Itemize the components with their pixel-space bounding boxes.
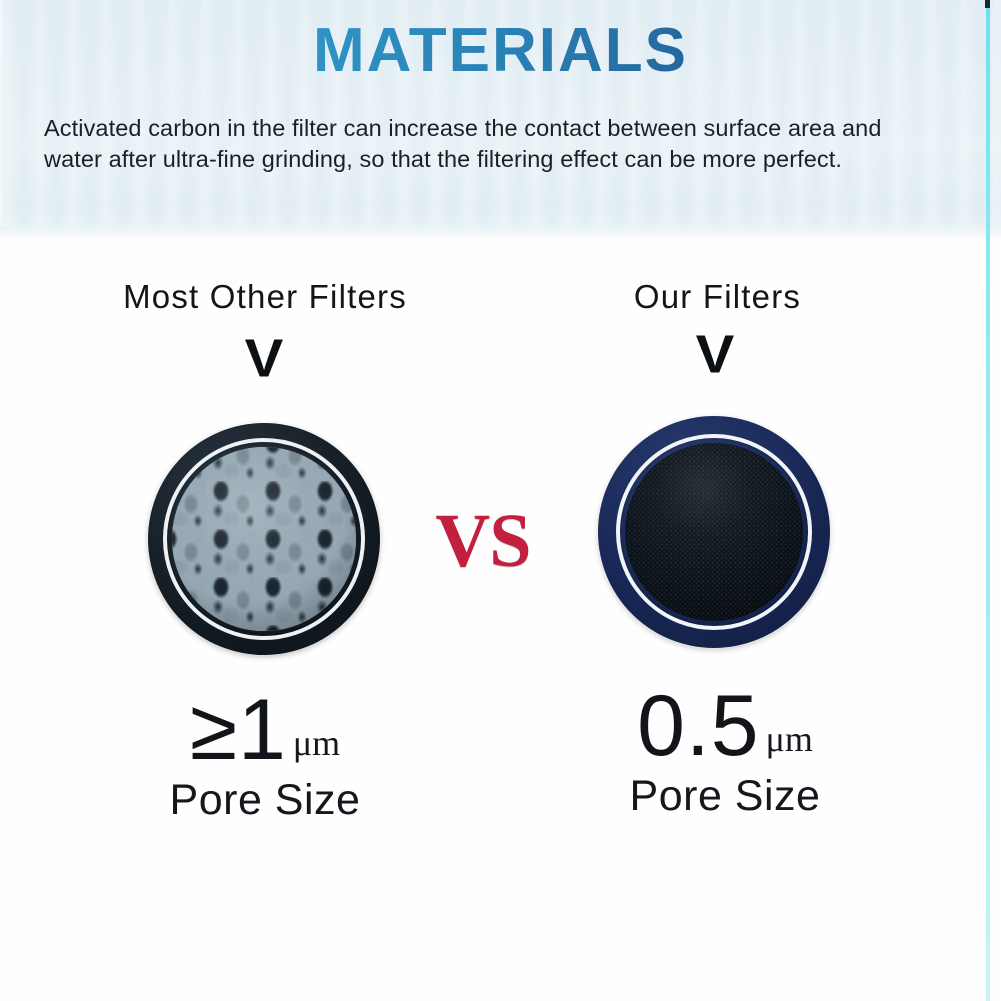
intro-paragraph: Activated carbon in the filter can incre… (44, 113, 934, 175)
spec-block-our-filters: 0.5 μm Pore Size (560, 686, 890, 819)
pore-size-caption-left: Pore Size (100, 778, 430, 823)
spec-value-row-left: ≥1 μm (100, 690, 430, 772)
spec-block-other-filters: ≥1 μm Pore Size (100, 690, 430, 823)
coarse-pore-filter-disc (148, 423, 380, 655)
spec-value-row-right: 0.5 μm (560, 686, 890, 768)
column-heading-our-filters: Our Filters (570, 278, 865, 316)
disc-outer-ring-right (598, 416, 830, 648)
pore-size-unit-left: μm (293, 725, 340, 761)
right-edge-accent-tip (985, 0, 990, 8)
comparison-area: Most Other Filters Our Filters V V VS (0, 238, 1001, 1001)
pore-size-value-right: 0.5 (637, 686, 760, 768)
right-edge-accent-line (986, 0, 990, 1001)
column-heading-other-filters: Most Other Filters (60, 278, 470, 316)
chevron-down-icon-right: V (655, 328, 775, 381)
ultrafine-pore-filter-disc (598, 416, 830, 648)
pore-size-caption-right: Pore Size (560, 774, 890, 819)
vs-label: VS (398, 503, 568, 579)
disc-inner-white-ring-left (163, 438, 365, 640)
disc-outer-ring-left (148, 423, 380, 655)
page-title: MATERIALS (0, 20, 1001, 82)
header-band: MATERIALS Activated carbon in the filter… (0, 0, 1001, 238)
pore-size-unit-right: μm (766, 721, 813, 757)
materials-comparison-infographic: MATERIALS Activated carbon in the filter… (0, 0, 1001, 1001)
chevron-down-icon-left: V (204, 332, 324, 385)
pore-size-value-left: ≥1 (190, 690, 287, 772)
disc-inner-white-ring-right (616, 434, 812, 630)
